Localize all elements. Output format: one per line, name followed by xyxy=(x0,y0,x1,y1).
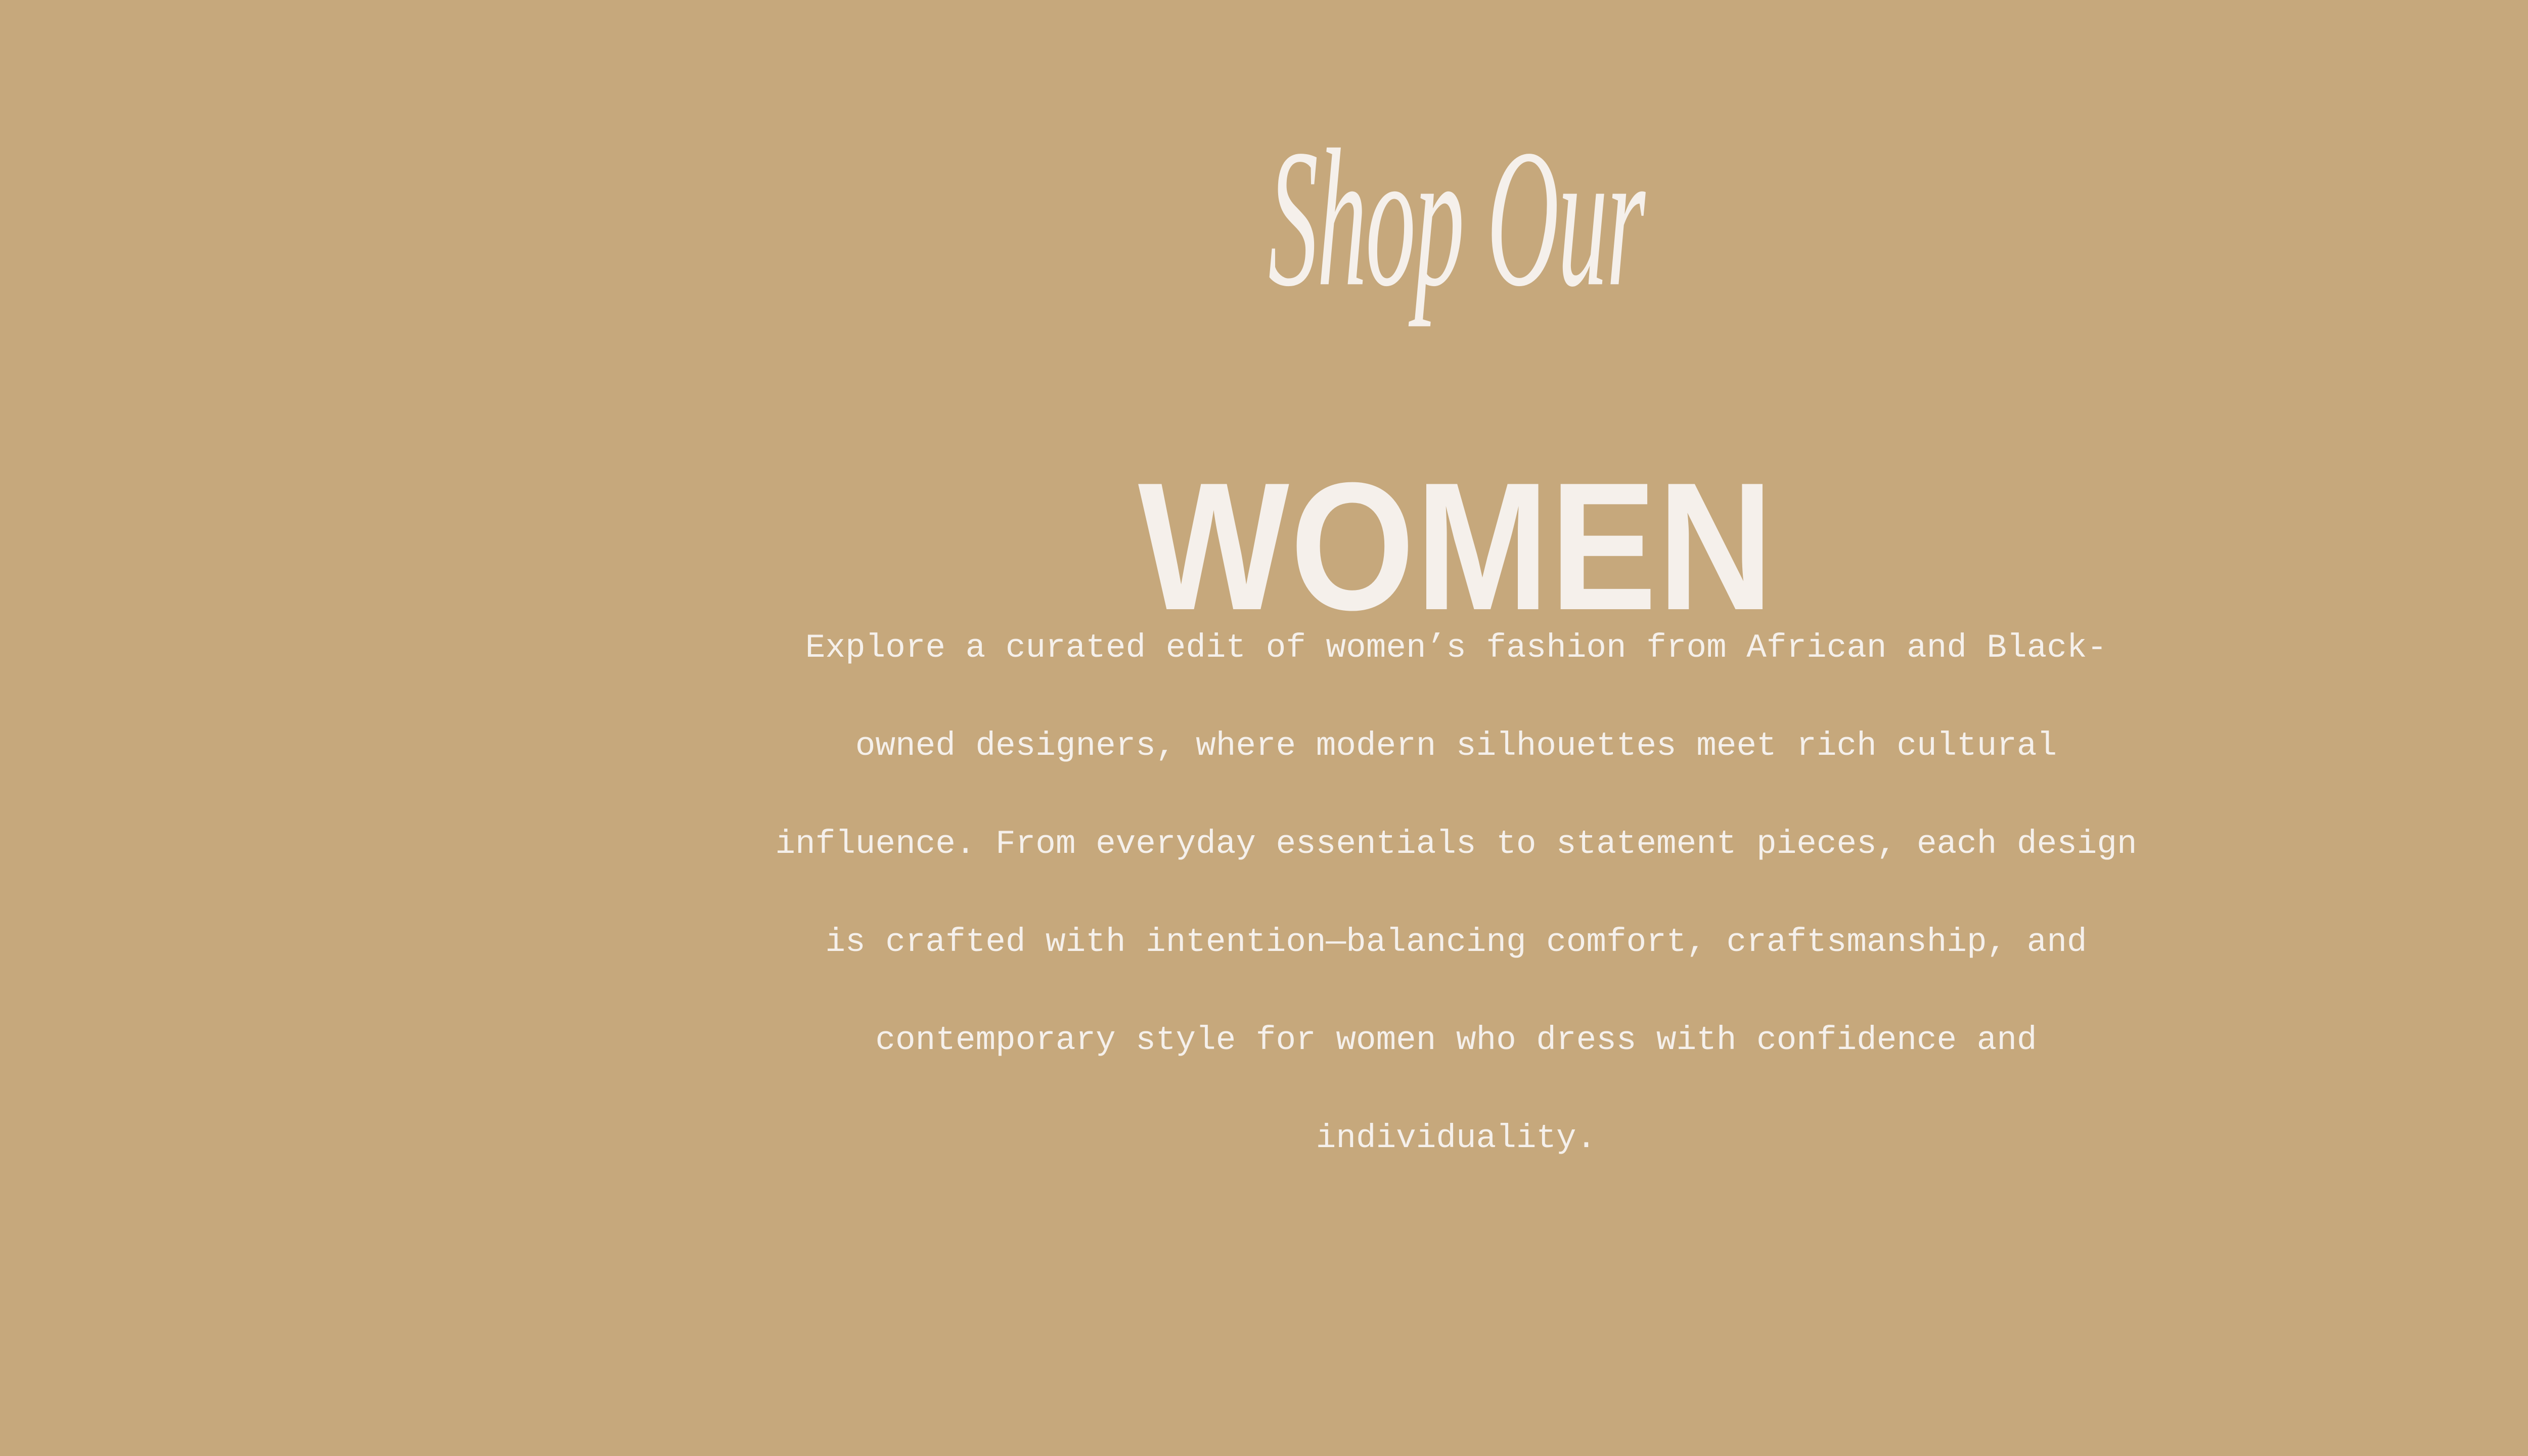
description-line: Explore a curated edit of women’s fashio… xyxy=(0,599,2528,697)
description-line: is crafted with intention—balancing comf… xyxy=(0,893,2528,991)
hero-eyebrow-script: Shop Our xyxy=(495,119,2417,316)
description-line: influence. From everyday essentials to s… xyxy=(0,795,2528,893)
description-line: owned designers, where modern silhouette… xyxy=(0,697,2528,795)
women-category-hero-banner: Shop Our WOMEN Explore a curated edit of… xyxy=(0,0,2528,1456)
description-line: individuality. xyxy=(0,1089,2528,1188)
hero-description-paragraph: Explore a curated edit of women’s fashio… xyxy=(0,599,2528,1188)
description-line: contemporary style for women who dress w… xyxy=(0,991,2528,1089)
